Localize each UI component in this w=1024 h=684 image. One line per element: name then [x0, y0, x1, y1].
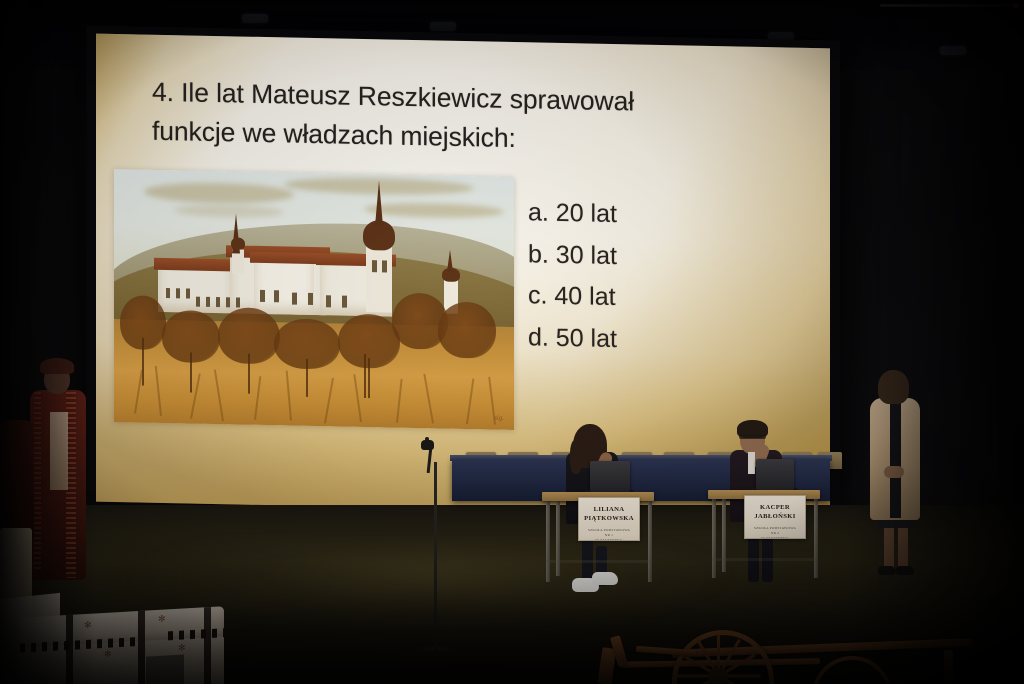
- indicator-led-icon: [1014, 4, 1018, 8]
- folk-headdress: [40, 358, 74, 374]
- shoe: [592, 572, 618, 585]
- option-a: a. 20 lat: [528, 192, 798, 239]
- projection-screen-surface: 4. Ile lat Mateusz Reszkiewicz sprawował…: [96, 34, 830, 517]
- placard-right-school-line3: W OLSZTYNKU: [745, 536, 805, 539]
- painting-signature: sig.: [494, 414, 504, 422]
- coat-opening: [890, 398, 901, 518]
- placard-left-name-line2: PIĄTKOWSKA: [579, 514, 639, 523]
- folk-apron: [50, 412, 68, 490]
- slide-painting: sig.: [114, 169, 514, 430]
- glasses-icon: [739, 434, 766, 439]
- option-d: d. 50 lat: [528, 317, 798, 364]
- stage-scene: 4. Ile lat Mateusz Reszkiewicz sprawował…: [0, 0, 1024, 684]
- stage-light-icon: [242, 14, 268, 23]
- stage-light-icon: [940, 46, 966, 55]
- tablet-right[interactable]: [756, 459, 794, 490]
- option-c: c. 40 lat: [528, 275, 798, 322]
- hair: [878, 370, 909, 404]
- placard-left-school-line3: W OLSZTYNKU: [579, 538, 639, 541]
- mic-stand-pole: [434, 462, 437, 652]
- slide-question: 4. Ile lat Mateusz Reszkiewicz sprawował…: [152, 73, 792, 164]
- projection-screen-frame: 4. Ile lat Mateusz Reszkiewicz sprawował…: [86, 25, 840, 522]
- placard-right-name-line2: JABŁOŃSKI: [745, 512, 805, 521]
- placard-left-name-line1: LILIANA: [579, 505, 639, 514]
- name-placard-left: LILIANA PIĄTKOWSKA SZKOŁA PODSTAWOWA NR …: [578, 497, 640, 541]
- tablet-left[interactable]: [590, 461, 630, 492]
- folk-chest: ✻ ✻ ✻ ✻: [18, 606, 224, 684]
- option-b: b. 30 lat: [528, 234, 798, 281]
- shirt-front: [748, 452, 755, 474]
- microphone-icon: [421, 440, 434, 450]
- placard-right-name-line1: KACPER: [745, 503, 805, 512]
- slide-options: a. 20 lat b. 30 lat c. 40 lat d. 50 lat: [528, 192, 798, 363]
- lighting-truss: [880, 4, 1024, 7]
- chest-panel: [146, 654, 184, 684]
- hands: [884, 466, 904, 478]
- name-placard-right: KACPER JABŁOŃSKI SZKOŁA PODSTAWOWA NR 2 …: [744, 495, 806, 539]
- stage-light-icon: [430, 22, 456, 31]
- slide: 4. Ile lat Mateusz Reszkiewicz sprawował…: [96, 34, 830, 517]
